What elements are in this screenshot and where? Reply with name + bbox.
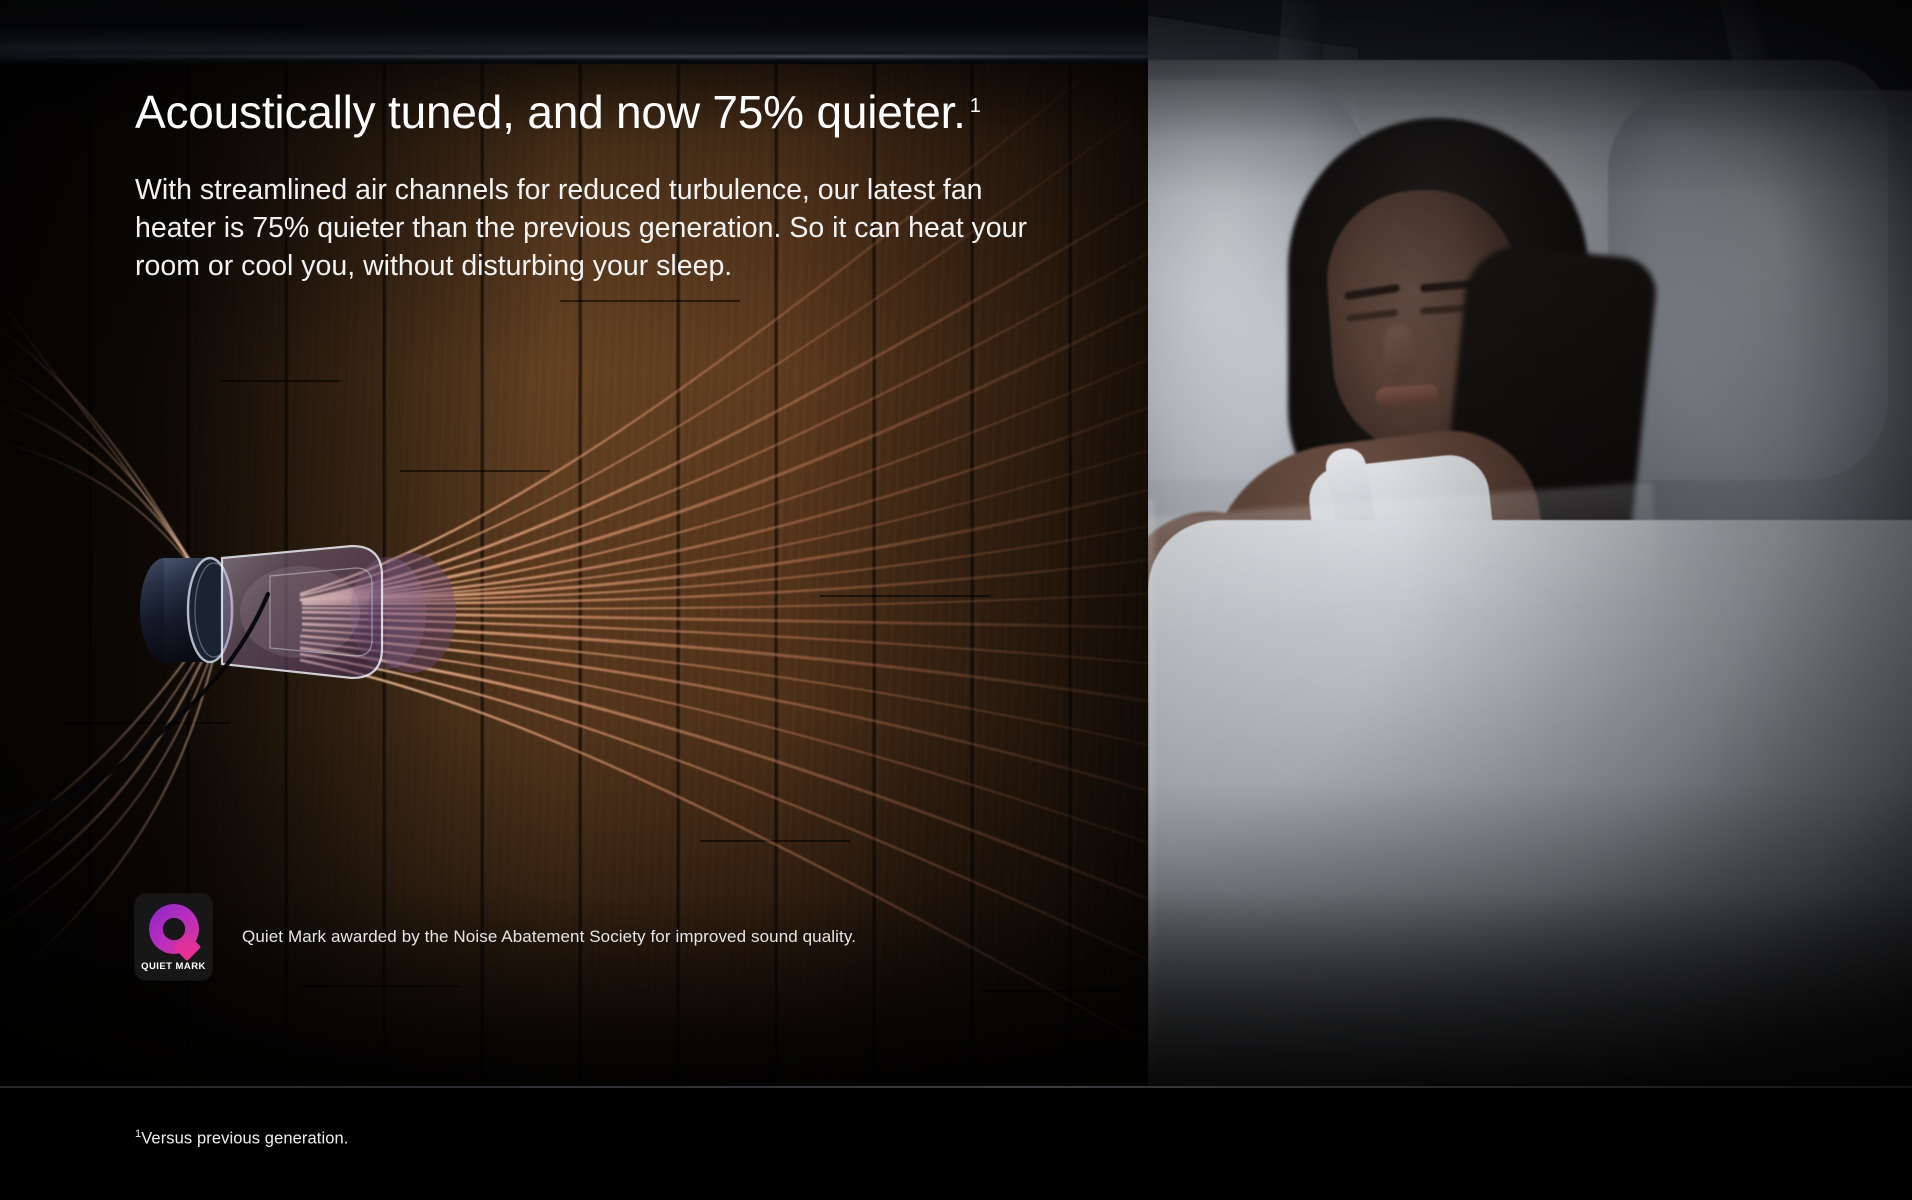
quiet-mark-badge-label: QUIET MARK — [141, 961, 206, 972]
footnote-text: Versus previous generation. — [141, 1130, 348, 1148]
headline-text: Acoustically tuned, and now 75% quieter. — [135, 86, 966, 138]
duvet-edge — [1148, 500, 1158, 1086]
bed-area — [1148, 0, 1912, 1086]
hero-copy: Acoustically tuned, and now 75% quieter.… — [135, 88, 1095, 285]
nose — [1384, 325, 1414, 377]
quiet-mark-badge: QUIET MARK — [135, 894, 212, 980]
headline-footnote-marker: 1 — [970, 95, 981, 117]
footer-separator — [0, 1086, 1912, 1088]
advert-page: Acoustically tuned, and now 75% quieter.… — [0, 0, 1912, 1200]
hero-body-text: With streamlined air channels for reduce… — [135, 171, 1055, 286]
quiet-mark-row: QUIET MARK Quiet Mark awarded by the Noi… — [135, 894, 856, 980]
footnote: 1Versus previous generation. — [135, 1128, 348, 1149]
quiet-mark-q-icon — [149, 904, 199, 954]
quiet-mark-caption: Quiet Mark awarded by the Noise Abatemen… — [242, 927, 856, 947]
page-title: Acoustically tuned, and now 75% quieter.… — [135, 88, 1095, 138]
